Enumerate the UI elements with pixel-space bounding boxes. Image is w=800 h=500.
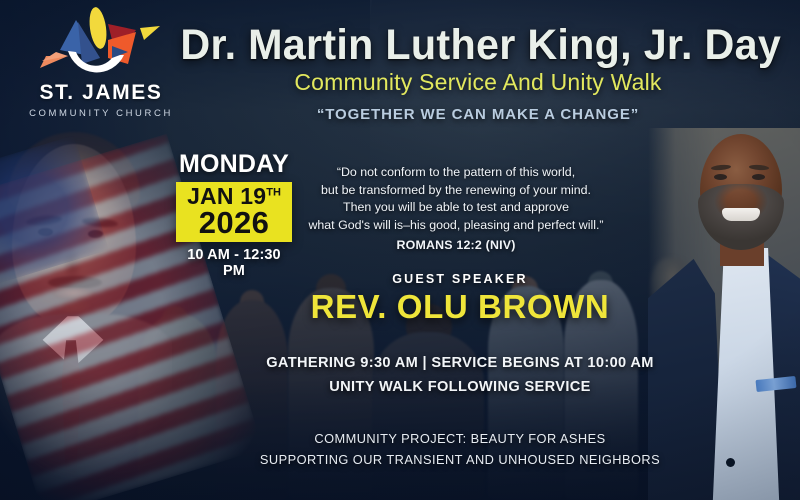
mlk-day-event-flyer: ST. JAMES COMMUNITY CHURCH Dr. Martin Lu… [0, 0, 800, 500]
guest-speaker-name: REV. OLU BROWN [300, 289, 620, 325]
date-block: MONDAY JAN 19TH 2026 10 AM - 12:30 PM [176, 152, 292, 279]
date-weekday: MONDAY [176, 152, 292, 177]
scripture-line-3: Then you will be able to test and approv… [343, 200, 569, 214]
schedule-line-2: UNITY WALK FOLLOWING SERVICE [250, 376, 670, 400]
church-logo[interactable]: ST. JAMES COMMUNITY CHURCH [16, 6, 186, 119]
church-tagline: COMMUNITY CHURCH [16, 108, 186, 119]
date-ordinal: TH [266, 186, 281, 198]
community-project-line-2: SUPPORTING OUR TRANSIENT AND UNHOUSED NE… [250, 449, 670, 470]
guest-speaker-block: GUEST SPEAKER REV. OLU BROWN [300, 272, 620, 325]
scripture-quote: “Do not conform to the pattern of this w… [300, 164, 612, 255]
event-title: Dr. Martin Luther King, Jr. Day [180, 24, 775, 67]
hummingbird-logo-icon [16, 6, 186, 84]
date-year: 2026 [180, 207, 288, 238]
schedule-block: GATHERING 9:30 AM | SERVICE BEGINS AT 10… [250, 352, 670, 399]
community-project-block: COMMUNITY PROJECT: BEAUTY FOR ASHES SUPP… [250, 428, 670, 470]
event-tagline: “TOGETHER WE CAN MAKE A CHANGE” [168, 106, 788, 123]
church-name: ST. JAMES [16, 82, 186, 103]
title-block: Dr. Martin Luther King, Jr. Day Communit… [168, 24, 788, 123]
scripture-line-1: “Do not conform to the pattern of this w… [337, 165, 575, 179]
scripture-line-4: what God's will is–his good, pleasing an… [308, 218, 603, 232]
schedule-line-1: GATHERING 9:30 AM | SERVICE BEGINS AT 10… [250, 352, 670, 376]
guest-speaker-label: GUEST SPEAKER [300, 272, 620, 286]
date-highlight-box: JAN 19TH 2026 [176, 182, 292, 242]
scripture-reference: ROMANS 12:2 (NIV) [300, 237, 612, 255]
event-subtitle: Community Service And Unity Walk [168, 70, 788, 95]
community-project-line-1: COMMUNITY PROJECT: BEAUTY FOR ASHES [250, 428, 670, 449]
scripture-line-2: but be transformed by the renewing of yo… [321, 183, 591, 197]
date-time-range: 10 AM - 12:30 PM [176, 247, 292, 279]
